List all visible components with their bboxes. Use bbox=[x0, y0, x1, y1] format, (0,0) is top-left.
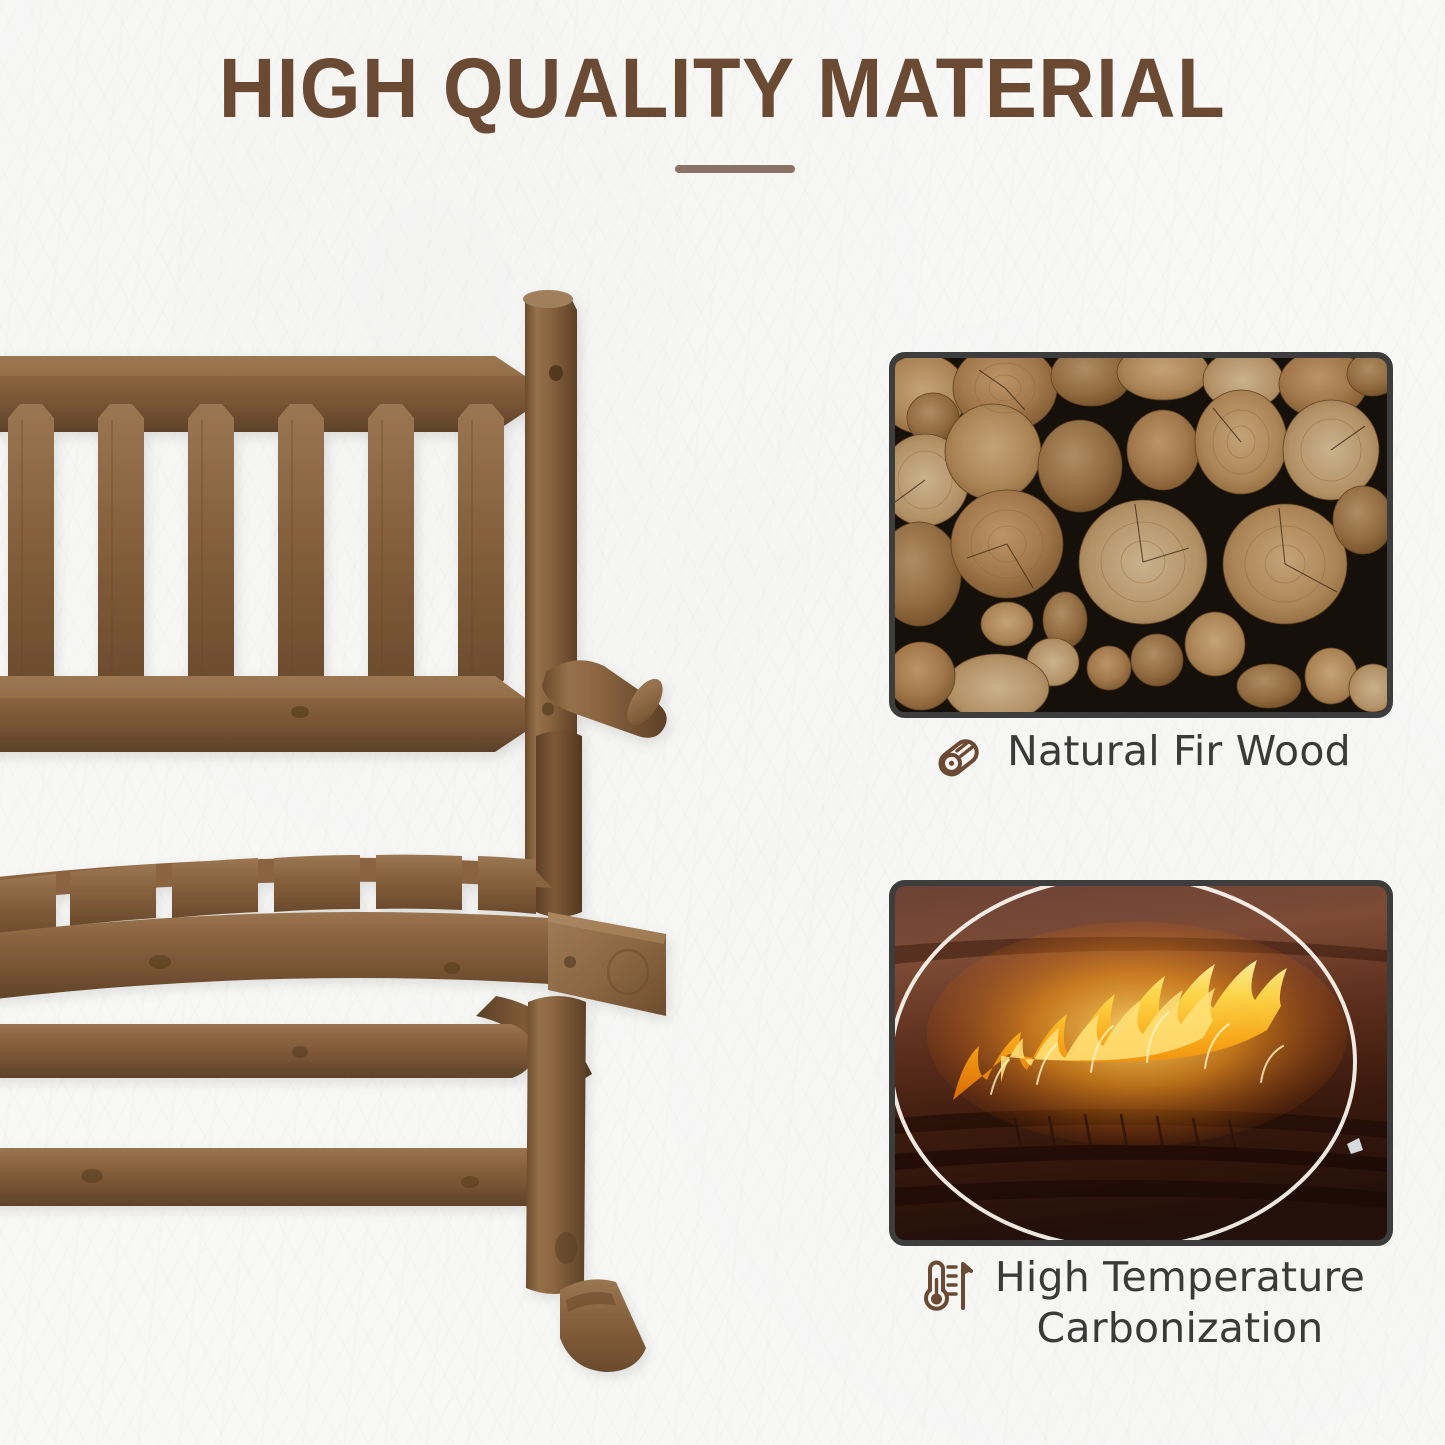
product-bench-image bbox=[0, 0, 780, 1445]
thermometer-icon bbox=[917, 1256, 973, 1319]
feature-label-line2: Carbonization bbox=[1037, 1304, 1324, 1352]
feature-photo-high-temperature-carbonization bbox=[889, 880, 1393, 1246]
log-icon bbox=[931, 730, 985, 789]
stacked-firewood-logs-image bbox=[895, 358, 1387, 712]
feature-label-line1: High Temperature bbox=[995, 1253, 1365, 1301]
feature-label: High Temperature Carbonization bbox=[995, 1252, 1365, 1355]
feature-label: Natural Fir Wood bbox=[1007, 726, 1351, 777]
feature-caption-natural-fir-wood: Natural Fir Wood bbox=[889, 726, 1393, 789]
feature-caption-high-temperature-carbonization: High Temperature Carbonization bbox=[889, 1252, 1393, 1355]
marketing-image: HIGH QUALITY MATERIAL bbox=[0, 0, 1445, 1445]
feature-photo-natural-fir-wood bbox=[889, 352, 1393, 718]
flame-on-carbonized-wood-image bbox=[895, 886, 1387, 1240]
